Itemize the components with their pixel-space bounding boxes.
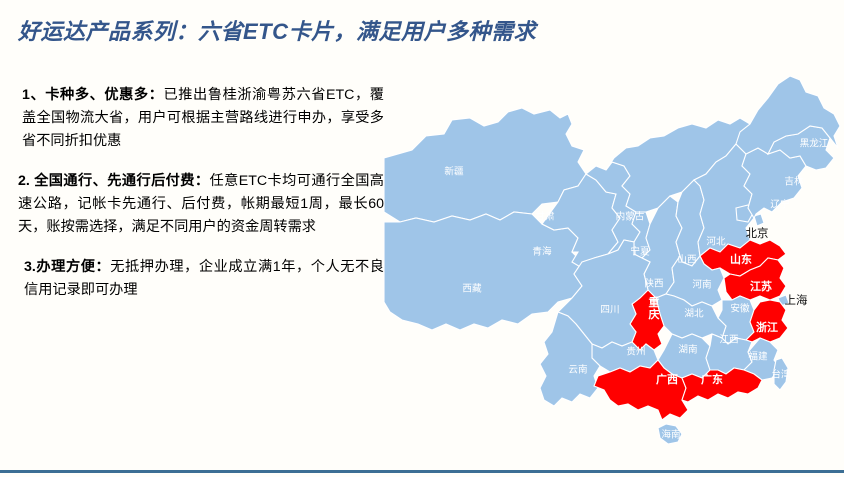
map-label-江苏: 江苏: [750, 279, 772, 293]
map-label-江西: 江西: [719, 335, 738, 346]
map-label-黑龙江: 黑龙江: [800, 138, 829, 150]
map-label-贵州: 贵州: [626, 346, 645, 358]
bullet-2-lead: 2. 全国通行、先通行后付费：: [18, 173, 210, 189]
list-item: 2. 全国通行、先通行后付费：任意ETC卡均可通行全国高速公路，记帐卡先通行、后…: [16, 170, 384, 239]
map-label-河南: 河南: [692, 279, 712, 291]
map-label-西藏: 西藏: [462, 283, 482, 295]
list-item: 1、卡种多、优惠多：已推出鲁桂浙渝粤苏六省ETC，覆盖全国物流大省，用户可根据主…: [16, 84, 384, 153]
map-label-青海: 青海: [532, 246, 552, 258]
map-label-内蒙古: 内蒙古: [616, 211, 645, 223]
list-item: 3.办理方便：无抵押办理，企业成立满1年，个人无不良信用记录即可办理: [16, 256, 384, 302]
map-label-辽宁: 辽宁: [770, 199, 789, 211]
map-label-山东: 山东: [730, 252, 752, 266]
map-label-台湾: 台湾: [771, 369, 791, 381]
map-label-北京: 北京: [746, 226, 769, 240]
map-label-云南: 云南: [568, 364, 588, 376]
map-label-重庆: 重: [649, 295, 660, 309]
map-label-重庆: 庆: [648, 307, 660, 321]
map-label-山西: 山西: [677, 255, 696, 266]
map-label-湖南: 湖南: [678, 344, 698, 356]
page-title: 好运达产品系列：六省ETC卡片，满足用户多种需求: [18, 14, 536, 46]
map-label-宁夏: 宁夏: [630, 246, 650, 258]
map-label-福建: 福建: [748, 351, 768, 363]
map-label-新疆: 新疆: [444, 166, 464, 178]
bullet-1-lead: 1、卡种多、优惠多：: [22, 87, 163, 103]
feature-list: 1、卡种多、优惠多：已推出鲁桂浙渝粤苏六省ETC，覆盖全国物流大省，用户可根据主…: [16, 84, 384, 319]
footer-rule: [0, 470, 844, 473]
map-label-河北: 河北: [706, 236, 726, 248]
map-label-湖北: 湖北: [684, 309, 704, 320]
map-label-陕西: 陕西: [644, 278, 663, 290]
bullet-3-lead: 3.办理方便：: [24, 259, 110, 275]
map-label-四川: 四川: [600, 305, 619, 316]
map-label-浙江: 浙江: [756, 320, 778, 334]
map-label-上海: 上海: [785, 293, 808, 307]
map-label-广东: 广东: [701, 372, 723, 386]
china-province-map: 新疆西藏青海甘肃内蒙古宁夏四川云南贵州陕西山西河北河南湖北湖南安徽江西福建黑龙江…: [382, 62, 844, 457]
map-label-海南: 海南: [661, 429, 681, 441]
china-map-container: 新疆西藏青海甘肃内蒙古宁夏四川云南贵州陕西山西河北河南湖北湖南安徽江西福建黑龙江…: [382, 62, 844, 457]
map-label-安徽: 安徽: [730, 303, 750, 315]
map-label-吉林: 吉林: [784, 176, 804, 188]
map-label-甘肃: 甘肃: [535, 211, 555, 223]
map-label-广西: 广西: [656, 372, 678, 386]
